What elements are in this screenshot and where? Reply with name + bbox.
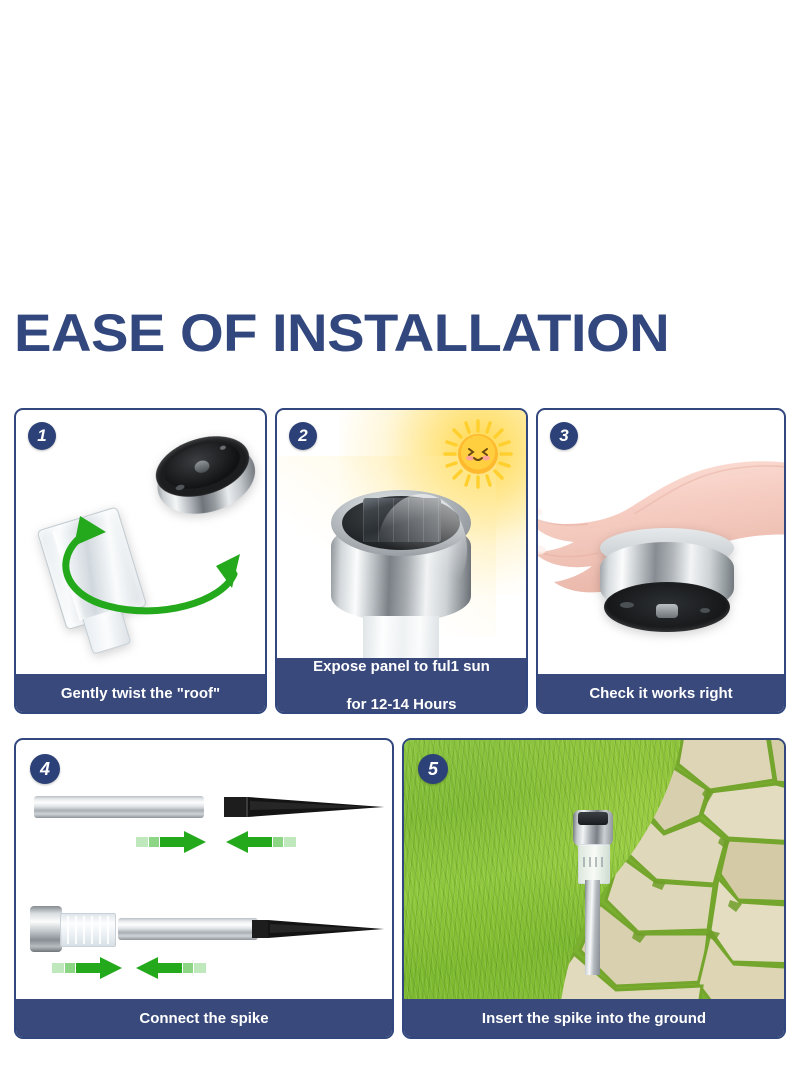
lamp-tube — [363, 616, 439, 658]
page-title: EASE OF INSTALLATION — [14, 306, 800, 362]
step-number-badge-5: 5 — [418, 754, 448, 784]
step-card-1[interactable]: 1 Gently twist the "roof" — [14, 408, 267, 714]
cap-vent-1 — [620, 602, 634, 608]
lamp-pole — [585, 880, 600, 975]
step-5-caption-bar: Insert the spike into the ground — [404, 999, 784, 1037]
step-number-badge-1: 1 — [28, 422, 56, 450]
installed-solar-light-icon — [572, 810, 614, 975]
step-1-caption-text: Gently twist the "roof" — [16, 685, 265, 702]
cap-gleam — [377, 494, 467, 606]
step-5-illustration — [404, 740, 784, 999]
step-4-caption-bar: Connect the spike — [16, 999, 392, 1037]
step-number-badge-2: 2 — [289, 422, 317, 450]
solar-panel-cap-icon — [323, 476, 479, 658]
step-2-illustration — [277, 410, 526, 658]
black-spike-icon — [252, 916, 384, 942]
step-3-illustration — [538, 410, 784, 674]
step-2-caption-bar: Expose panel to ful1 sun for 12-14 Hours — [277, 658, 526, 712]
step-2-caption-text: Expose panel to ful1 sun for 12-14 Hours — [277, 657, 526, 714]
black-spike-icon — [224, 794, 384, 820]
lamp-diffuser — [578, 844, 610, 884]
rotation-arrow-icon — [44, 502, 252, 622]
lamp-head-chrome — [30, 906, 62, 952]
step-2-caption-line-2: for 12-14 Hours — [277, 695, 526, 714]
step-number-badge-3: 3 — [550, 422, 578, 450]
green-arrow-right-icon[interactable] — [136, 828, 208, 856]
metal-tube-icon — [118, 918, 258, 940]
green-arrow-left-icon[interactable] — [224, 828, 296, 856]
step-1-illustration — [16, 410, 265, 674]
step-3-caption-bar: Check it works right — [538, 674, 784, 712]
solar-cap-icon — [600, 528, 734, 634]
lamp-head-diffuser — [60, 913, 116, 947]
step-card-2[interactable]: 2 — [275, 408, 528, 714]
step-4-caption-text: Connect the spike — [16, 1010, 392, 1027]
step-3-caption-text: Check it works right — [538, 685, 784, 702]
step-5-caption-text: Insert the spike into the ground — [404, 1010, 784, 1027]
metal-tube-icon — [34, 796, 204, 818]
cap-base-dark — [604, 582, 730, 632]
step-1-caption-bar: Gently twist the "roof" — [16, 674, 265, 712]
step-card-5[interactable]: 5 — [402, 738, 786, 1039]
cap-contact-nub — [656, 604, 678, 618]
cap-vent-2 — [700, 608, 710, 613]
green-arrow-left-icon[interactable] — [134, 954, 206, 982]
lamp-head-icon — [30, 906, 120, 954]
step-2-caption-line-1: Expose panel to ful1 sun — [277, 657, 526, 676]
step-4-illustration — [16, 740, 392, 999]
green-arrow-right-icon[interactable] — [52, 954, 124, 982]
step-card-3[interactable]: 3 — [536, 408, 786, 714]
step-number-badge-4: 4 — [30, 754, 60, 784]
lamp-cap — [573, 810, 613, 846]
step-card-4[interactable]: 4 — [14, 738, 394, 1039]
